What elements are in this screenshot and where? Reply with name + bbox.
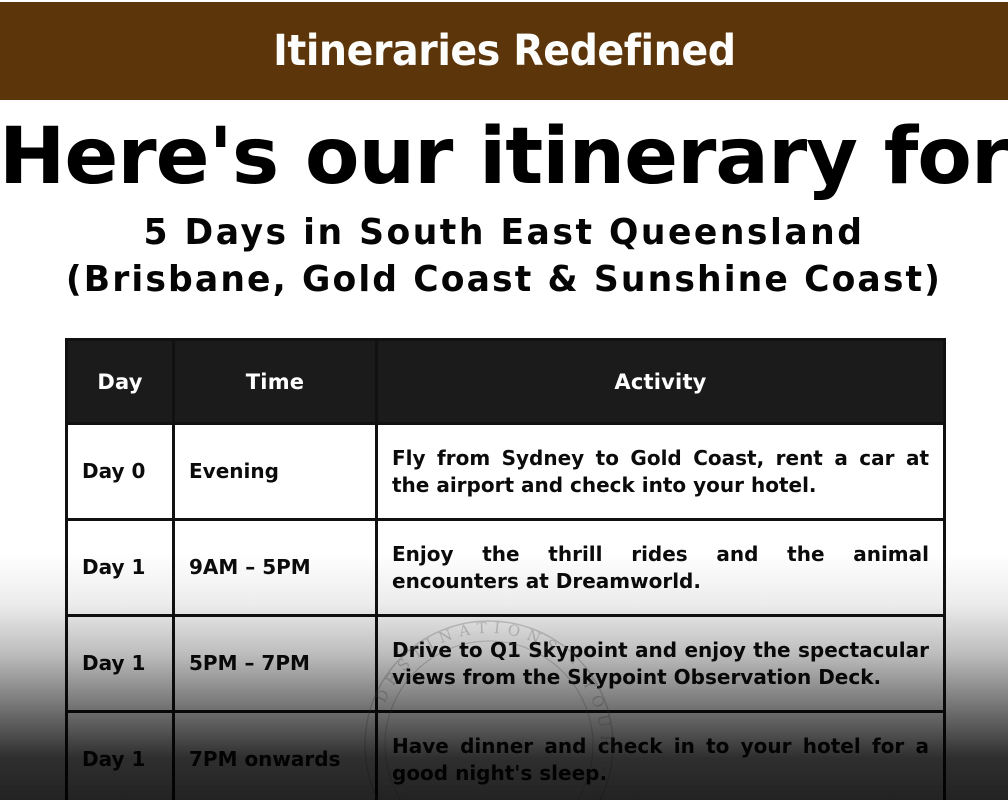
subtitle-line-2: (Brisbane, Gold Coast & Sunshine Coast) xyxy=(20,259,988,300)
cell-time: Evening xyxy=(174,424,377,520)
table-row: Day 1 7PM onwards Have dinner and check … xyxy=(67,712,945,800)
cell-day: Day 0 xyxy=(67,424,174,520)
cell-time: 9AM – 5PM xyxy=(174,520,377,616)
cell-activity: Drive to Q1 Skypoint and enjoy the spect… xyxy=(377,616,945,712)
table-header: Day Time Activity xyxy=(67,340,945,424)
cell-day: Day 1 xyxy=(67,616,174,712)
table-row: Day 0 Evening Fly from Sydney to Gold Co… xyxy=(67,424,945,520)
itinerary-table: Day Time Activity Day 0 Evening Fly from… xyxy=(65,338,946,800)
page-title: Here's our itinerary for xyxy=(0,118,1008,196)
banner-title: Itineraries Redefined xyxy=(273,26,735,76)
column-header-day: Day xyxy=(67,340,174,424)
table-body: Day 0 Evening Fly from Sydney to Gold Co… xyxy=(67,424,945,800)
cell-time: 7PM onwards xyxy=(174,712,377,800)
cell-activity: Enjoy the thrill rides and the animal en… xyxy=(377,520,945,616)
subtitle-line-1: 5 Days in South East Queensland xyxy=(20,212,988,253)
page-banner: Itineraries Redefined xyxy=(0,2,1008,100)
cell-day: Day 1 xyxy=(67,712,174,800)
table-row: Day 1 9AM – 5PM Enjoy the thrill rides a… xyxy=(67,520,945,616)
cell-time: 5PM – 7PM xyxy=(174,616,377,712)
table-header-row: Day Time Activity xyxy=(67,340,945,424)
cell-day: Day 1 xyxy=(67,520,174,616)
table-row: Day 1 5PM – 7PM Drive to Q1 Skypoint and… xyxy=(67,616,945,712)
cell-activity: Have dinner and check in to your hotel f… xyxy=(377,712,945,800)
cell-activity: Fly from Sydney to Gold Coast, rent a ca… xyxy=(377,424,945,520)
column-header-activity: Activity xyxy=(377,340,945,424)
headline-block: Here's our itinerary for 5 Days in South… xyxy=(0,100,1008,300)
itinerary-page: Itineraries Redefined Here's our itinera… xyxy=(0,0,1008,800)
column-header-time: Time xyxy=(174,340,377,424)
